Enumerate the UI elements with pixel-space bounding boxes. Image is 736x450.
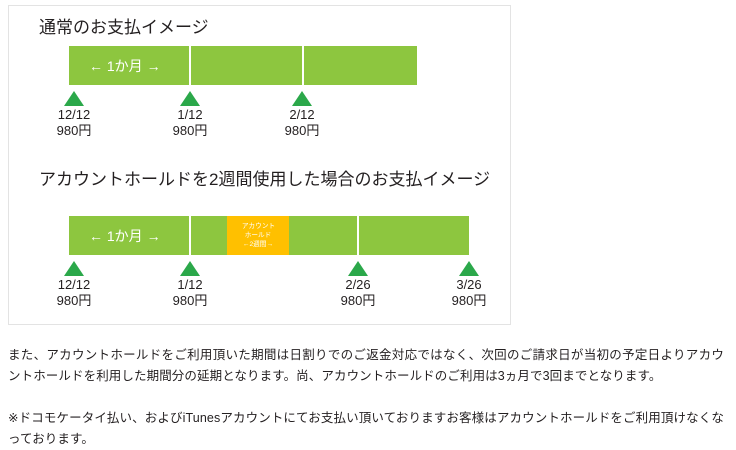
payment-marker-1 xyxy=(64,261,84,276)
payment-marker-2 xyxy=(180,261,200,276)
marker-price: 980円 xyxy=(318,293,398,309)
footer-notes: また、アカウントホールドをご利用頂いた期間は日割りでのご返金対応ではなく、次回の… xyxy=(8,345,724,450)
payment-marker-label-2: 1/12 980円 xyxy=(150,277,230,309)
marker-date: 1/12 xyxy=(150,107,230,123)
payment-marker-2 xyxy=(180,91,200,106)
diagram-account-hold-payment: アカウントホールドを2週間使用した場合のお支払イメージ アカウント ホールド ←… xyxy=(9,161,510,326)
payment-marker-3 xyxy=(292,91,312,106)
account-hold-line-2: ホールド xyxy=(245,231,272,240)
payment-marker-label-3: 2/12 980円 xyxy=(262,107,342,139)
payment-diagram-panel: 通常のお支払イメージ ← 1か月 → 12/12 980円 1/12 980円 … xyxy=(8,5,511,325)
payment-marker-4 xyxy=(459,261,479,276)
marker-price: 980円 xyxy=(262,123,342,139)
marker-date: 2/12 xyxy=(262,107,342,123)
account-hold-line-3: ←2週間→ xyxy=(243,240,273,249)
timeline-normal: ← 1か月 → 12/12 980円 1/12 980円 2/12 980円 xyxy=(9,6,510,161)
payment-marker-label-2: 1/12 980円 xyxy=(150,107,230,139)
payment-marker-label-1: 12/12 980円 xyxy=(34,277,114,309)
timeline-hold: アカウント ホールド ←2週間→ ← 1か月 → 12/12 980円 1/12… xyxy=(9,161,510,326)
note-paragraph-secondary: ※ドコモケータイ払い、およびiTunesアカウントにてお支払い頂いておりますお客… xyxy=(8,408,724,450)
marker-date: 1/12 xyxy=(150,277,230,293)
marker-price: 980円 xyxy=(34,123,114,139)
bar-divider-2 xyxy=(357,216,359,255)
payment-marker-3 xyxy=(348,261,368,276)
marker-price: 980円 xyxy=(150,293,230,309)
marker-date: 12/12 xyxy=(34,107,114,123)
account-hold-segment: アカウント ホールド ←2週間→ xyxy=(227,216,289,255)
payment-marker-label-1: 12/12 980円 xyxy=(34,107,114,139)
month-span-label-normal: ← 1か月 → xyxy=(89,58,161,74)
bar-divider-1 xyxy=(189,216,191,255)
payment-marker-label-4: 3/26 980円 xyxy=(429,277,509,309)
marker-price: 980円 xyxy=(34,293,114,309)
diagram-normal-payment: 通常のお支払イメージ ← 1か月 → 12/12 980円 1/12 980円 … xyxy=(9,6,510,161)
marker-date: 3/26 xyxy=(429,277,509,293)
payment-marker-label-3: 2/26 980円 xyxy=(318,277,398,309)
payment-marker-1 xyxy=(64,91,84,106)
marker-price: 980円 xyxy=(429,293,509,309)
marker-date: 2/26 xyxy=(318,277,398,293)
marker-price: 980円 xyxy=(150,123,230,139)
month-span-label-hold: ← 1か月 → xyxy=(89,228,161,244)
bar-divider-1 xyxy=(189,46,191,85)
bar-divider-2 xyxy=(302,46,304,85)
note-paragraph-primary: また、アカウントホールドをご利用頂いた期間は日割りでのご返金対応ではなく、次回の… xyxy=(8,345,724,387)
account-hold-line-1: アカウント xyxy=(241,222,274,231)
marker-date: 12/12 xyxy=(34,277,114,293)
